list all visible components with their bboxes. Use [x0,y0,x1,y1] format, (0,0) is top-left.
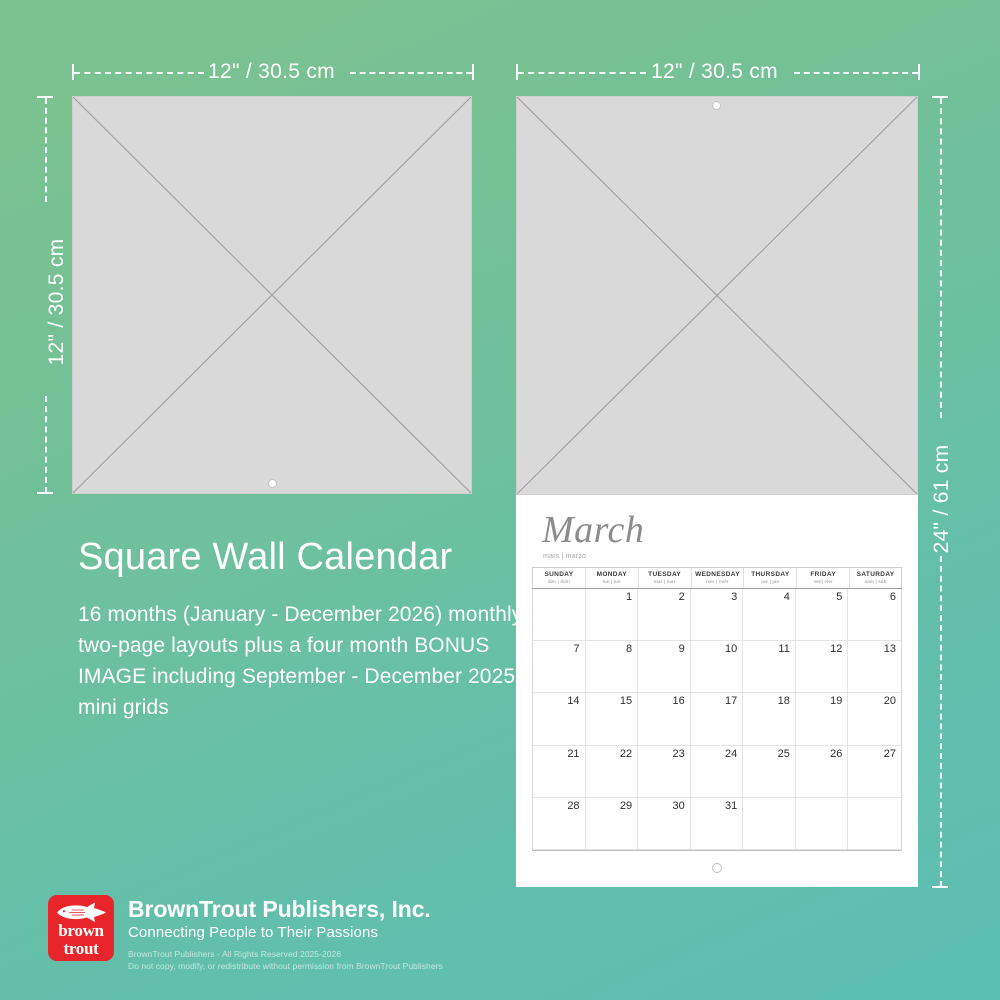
calendar-date-number: 26 [830,748,842,760]
calendar-day-header: TUESDAYmar | mar [638,568,691,588]
calendar-date-cell[interactable]: 26 [796,746,849,798]
calendar-date-number: 17 [725,695,737,707]
calendar-month-subtitle: mars | marzo [543,553,586,560]
calendar-date-number: 14 [567,695,579,707]
dim-tick-left-vert-end [37,492,53,494]
calendar-date-cell[interactable]: 12 [796,641,849,693]
calendar-month-title: March [542,511,644,549]
calendar-date-number: 8 [626,643,632,655]
calendar-date-number: 25 [778,748,790,760]
calendar-date-cells: 1234567891011121314151617181920212223242… [532,589,902,851]
calendar-date-cell[interactable]: 28 [533,798,586,850]
calendar-date-number: 31 [725,800,737,812]
dim-tick-right-top-end [918,64,920,80]
calendar-date-cell[interactable]: 21 [533,746,586,798]
calendar-date-cell[interactable]: 14 [533,693,586,745]
calendar-day-name: MONDAY [586,571,638,579]
publisher-tagline: Connecting People to Their Passions [128,924,443,941]
calendar-date-cell[interactable] [848,798,901,850]
dim-line-right-vert-a [940,98,942,418]
calendar-date-number: 13 [884,643,896,655]
calendar-date-cell[interactable]: 18 [743,693,796,745]
calendar-date-cell[interactable]: 29 [586,798,639,850]
calendar-date-number: 5 [836,591,842,603]
calendar-date-number: 19 [830,695,842,707]
calendar-grid: SUNDAYdim | domMONDAYlun | lunTUESDAYmar… [532,567,902,851]
calendar-date-number: 22 [620,748,632,760]
calendar-date-cell[interactable]: 17 [691,693,744,745]
calendar-date-cell[interactable]: 22 [586,746,639,798]
calendar-date-number: 11 [778,643,789,655]
calendar-date-number: 29 [620,800,632,812]
calendar-date-cell[interactable]: 16 [638,693,691,745]
calendar-day-name-translated: ven| vier [797,579,849,585]
calendar-day-name-translated: dim | dom [533,579,585,585]
calendar-day-name: TUESDAY [639,571,691,579]
dim-line-left-top-a [74,72,204,74]
calendar-day-header: MONDAYlun | lun [585,568,638,588]
dim-tick-right-vert-end [932,886,948,888]
calendar-date-cell[interactable]: 11 [743,641,796,693]
logo-line-2: trout [48,940,114,958]
calendar-date-number: 28 [567,800,579,812]
calendar-date-number: 21 [567,748,579,760]
trout-fish-icon [53,901,109,923]
calendar-date-cell[interactable]: 6 [848,589,901,641]
calendar-date-number: 6 [890,591,896,603]
calendar-date-number: 16 [672,695,684,707]
dim-line-right-top-b [794,72,918,74]
calendar-day-header-row: SUNDAYdim | domMONDAYlun | lunTUESDAYmar… [532,567,902,589]
calendar-date-cell[interactable]: 23 [638,746,691,798]
calendar-date-number: 1 [626,591,632,603]
calendar-date-number: 24 [725,748,737,760]
logo-line-1: brown [48,922,114,940]
calendar-date-cell[interactable]: 25 [743,746,796,798]
calendar-date-number: 7 [573,643,579,655]
dim-line-left-vert-b [45,396,47,493]
product-description: 16 months (January - December 2026) mont… [78,600,528,723]
calendar-date-cell[interactable] [796,798,849,850]
calendar-date-cell[interactable]: 1 [586,589,639,641]
calendar-day-name: SATURDAY [850,571,901,579]
dim-label-right-vertical: 24" / 61 cm [930,419,954,579]
calendar-day-name: THURSDAY [744,571,796,579]
legal-line-2: Do not copy, modify, or redistribute wit… [128,961,443,972]
browntrout-logo: brown trout [48,895,114,961]
calendar-date-number: 2 [679,591,685,603]
dim-line-left-top-b [350,72,472,74]
calendar-date-cell[interactable]: 10 [691,641,744,693]
legal-notice: BrownTrout Publishers - All Rights Reser… [128,949,443,972]
calendar-date-cell[interactable]: 27 [848,746,901,798]
calendar-date-number: 10 [725,643,737,655]
calendar-day-header: WEDNESDAYmer | miér [691,568,744,588]
calendar-date-number: 4 [784,591,790,603]
dim-line-left-vert-a [45,98,47,202]
calendar-date-number: 20 [884,695,896,707]
calendar-day-name-translated: lun | lun [586,579,638,585]
dim-label-left-vertical: 12" / 30.5 cm [45,202,69,402]
calendar-date-number: 9 [679,643,685,655]
publisher-name: BrownTrout Publishers, Inc. [128,897,443,922]
calendar-date-cell[interactable]: 30 [638,798,691,850]
dim-tick-left-top-end [472,64,474,80]
page-title: Square Wall Calendar [78,536,452,579]
calendar-date-cell[interactable] [533,589,586,641]
calendar-day-name-translated: mer | miér [692,579,744,585]
dim-label-top-right: 12" / 30.5 cm [651,60,778,84]
placeholder-cross-icon [517,97,917,494]
calendar-day-name-translated: sam | sáb [850,579,901,585]
footer-text-block: BrownTrout Publishers, Inc. Connecting P… [128,895,443,972]
calendar-day-name: FRIDAY [797,571,849,579]
calendar-date-cell[interactable]: 5 [796,589,849,641]
calendar-day-header: SATURDAYsam | sáb [849,568,902,588]
right-cover-image-placeholder [516,96,918,495]
calendar-day-name: SUNDAY [533,571,585,579]
calendar-date-cell[interactable]: 9 [638,641,691,693]
calendar-date-cell[interactable]: 13 [848,641,901,693]
calendar-day-name: WEDNESDAY [692,571,744,579]
calendar-date-cell[interactable]: 2 [638,589,691,641]
calendar-date-cell[interactable]: 7 [533,641,586,693]
hole-punch-left-panel [268,479,277,488]
calendar-date-number: 30 [672,800,684,812]
hole-punch-calendar-bottom [712,863,722,873]
calendar-day-header: SUNDAYdim | dom [532,568,585,588]
calendar-date-cell[interactable]: 4 [743,589,796,641]
left-cover-image-placeholder [72,96,472,494]
calendar-date-cell[interactable]: 8 [586,641,639,693]
calendar-date-cell[interactable]: 3 [691,589,744,641]
calendar-date-number: 27 [884,748,896,760]
calendar-date-cell[interactable] [743,798,796,850]
dim-line-right-top-a [518,72,646,74]
calendar-date-cell[interactable]: 19 [796,693,849,745]
calendar-day-header: FRIDAYven| vier [796,568,849,588]
footer: brown trout BrownTrout Publishers, Inc. … [48,895,443,972]
browntrout-logo-text: brown trout [48,922,114,959]
calendar-date-cell[interactable]: 20 [848,693,901,745]
legal-line-1: BrownTrout Publishers - All Rights Reser… [128,949,443,960]
calendar-date-number: 3 [731,591,737,603]
calendar-day-name-translated: mar | mar [639,579,691,585]
hole-punch-right-panel-top [712,101,721,110]
dim-label-top-left: 12" / 30.5 cm [208,60,335,84]
calendar-date-number: 23 [672,748,684,760]
calendar-date-number: 18 [778,695,790,707]
placeholder-cross-icon [73,97,471,493]
calendar-date-cell[interactable]: 15 [586,693,639,745]
dim-line-right-vert-b [940,556,942,887]
calendar-date-cell[interactable]: 24 [691,746,744,798]
calendar-date-number: 15 [620,695,632,707]
calendar-page: March mars | marzo SUNDAYdim | domMONDAY… [516,495,918,887]
calendar-date-cell[interactable]: 31 [691,798,744,850]
calendar-day-name-translated: jue | jue [744,579,796,585]
calendar-date-number: 12 [830,643,842,655]
calendar-day-header: THURSDAYjue | jue [743,568,796,588]
